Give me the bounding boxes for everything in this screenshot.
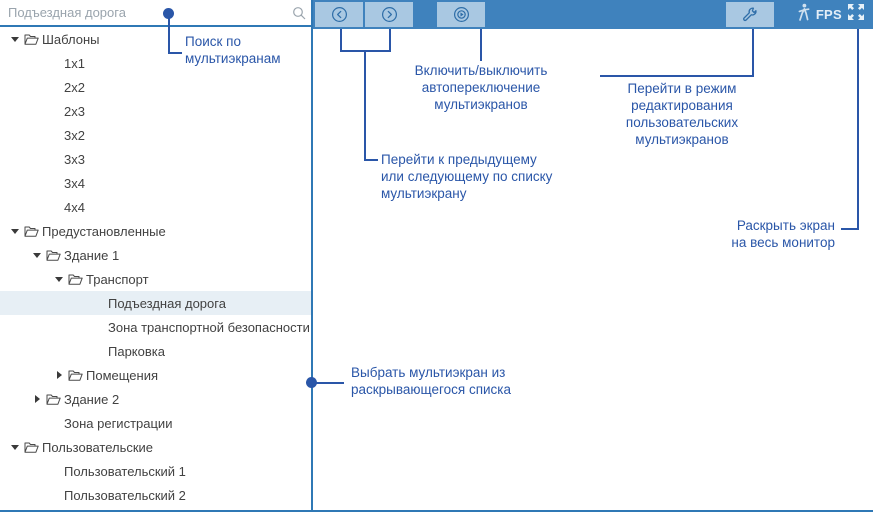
multiscreen-toolbar: FPS: [313, 0, 873, 29]
multiscreen-tree[interactable]: Шаблоны1x12x22x33x23x33x44x4Предустановл…: [0, 27, 313, 510]
tree-item[interactable]: Зона регистрации: [0, 411, 311, 435]
tree-item[interactable]: Помещения: [0, 363, 311, 387]
chevron-right-icon[interactable]: [52, 363, 66, 387]
search-input[interactable]: Подъездная дорога: [0, 5, 287, 20]
fps-indicator: FPS: [796, 3, 865, 27]
fullscreen-expand-icon[interactable]: [847, 3, 865, 26]
folder-spacer: [44, 459, 62, 483]
folder-spacer: [88, 339, 106, 363]
annotation-edit-mode: Перейти в режим редактирования пользоват…: [593, 80, 771, 148]
play-circle-icon: [453, 6, 470, 23]
folder-spacer: [44, 483, 62, 507]
tree-item-label: Здание 1: [62, 248, 119, 263]
callout-line-fullscreen-h: [841, 228, 859, 230]
tree-item[interactable]: Предустановленные: [0, 219, 311, 243]
tree-item[interactable]: Здание 2: [0, 387, 311, 411]
folder-icon: [44, 243, 62, 267]
callout-line-editmode-h: [600, 75, 754, 77]
folder-icon: [22, 219, 40, 243]
tree-item[interactable]: Пользовательские: [0, 435, 311, 459]
chevron-right-circle-icon: [381, 6, 398, 23]
callout-line-prevnext-drop: [364, 50, 366, 160]
tree-item[interactable]: 3x3: [0, 147, 311, 171]
tree-item[interactable]: 2x2: [0, 75, 311, 99]
folder-spacer: [44, 51, 62, 75]
tree-arrow-spacer: [30, 147, 44, 171]
tree-item-label: Помещения: [84, 368, 158, 383]
annotation-autoswitch: Включить/выключить автопереключение муль…: [379, 62, 583, 113]
tree-item-label: Парковка: [106, 344, 165, 359]
tree-item-label: 2x3: [62, 104, 85, 119]
prev-multiscreen-button[interactable]: [315, 2, 363, 27]
callout-line-search-v: [168, 13, 170, 53]
callout-line-next-v: [389, 29, 391, 51]
folder-spacer: [44, 195, 62, 219]
tree-item-label: Пользовательские: [40, 440, 153, 455]
chevron-down-icon[interactable]: [8, 435, 22, 459]
callout-line-editmode-v: [752, 29, 754, 76]
callout-line-autoswitch: [480, 29, 482, 61]
annotation-dropdown: Выбрать мультиэкран из раскрывающегося с…: [351, 364, 581, 398]
callout-line-prev-v: [340, 29, 342, 51]
tree-arrow-spacer: [30, 195, 44, 219]
tree-arrow-spacer: [30, 99, 44, 123]
tree-item[interactable]: Зона транспортной безопасности: [0, 315, 311, 339]
tree-arrow-spacer: [30, 411, 44, 435]
callout-line-search-h: [168, 52, 182, 54]
fps-label: FPS: [816, 7, 842, 22]
tree-item-label: Зона регистрации: [62, 416, 172, 431]
tree-item[interactable]: Пользовательский 1: [0, 459, 311, 483]
callout-line-dropdown: [312, 382, 344, 384]
annotation-fullscreen: Раскрыть экран на весь монитор: [655, 217, 835, 251]
tree-item-label: Зона транспортной безопасности: [106, 320, 310, 335]
search-field[interactable]: Подъездная дорога: [0, 0, 313, 27]
tree-arrow-spacer: [30, 483, 44, 507]
tree-arrow-spacer: [30, 75, 44, 99]
next-multiscreen-button[interactable]: [365, 2, 413, 27]
tree-item[interactable]: 3x2: [0, 123, 311, 147]
folder-icon: [66, 267, 84, 291]
chevron-down-icon[interactable]: [30, 243, 44, 267]
tree-item-label: 3x4: [62, 176, 85, 191]
tree-arrow-spacer: [30, 123, 44, 147]
annotation-prev-next: Перейти к предыдущему или следующему по …: [381, 151, 606, 202]
tree-item[interactable]: 4x4: [0, 195, 311, 219]
tree-item-label: 1x1: [62, 56, 85, 71]
folder-spacer: [44, 171, 62, 195]
chevron-left-circle-icon: [331, 6, 348, 23]
autoswitch-toggle-button[interactable]: [437, 2, 485, 27]
folder-spacer: [44, 99, 62, 123]
tree-arrow-spacer: [74, 339, 88, 363]
tree-item-label: 3x2: [62, 128, 85, 143]
folder-spacer: [44, 123, 62, 147]
chevron-down-icon[interactable]: [52, 267, 66, 291]
folder-icon: [44, 387, 62, 411]
search-icon[interactable]: [287, 0, 311, 26]
folder-icon: [22, 27, 40, 51]
tree-arrow-spacer: [30, 171, 44, 195]
tree-item[interactable]: Здание 1: [0, 243, 311, 267]
chevron-down-icon[interactable]: [8, 219, 22, 243]
tree-item-label: Здание 2: [62, 392, 119, 407]
folder-icon: [22, 435, 40, 459]
tree-item[interactable]: Транспорт: [0, 267, 311, 291]
tree-item-label: Транспорт: [84, 272, 149, 287]
tree-item-label: Предустановленные: [40, 224, 166, 239]
folder-spacer: [88, 291, 106, 315]
walking-person-icon: [796, 3, 811, 27]
chevron-right-icon[interactable]: [30, 387, 44, 411]
tree-item[interactable]: Парковка: [0, 339, 311, 363]
folder-spacer: [44, 75, 62, 99]
tree-arrow-spacer: [30, 51, 44, 75]
folder-spacer: [88, 315, 106, 339]
tree-item-label: 4x4: [62, 200, 85, 215]
tree-item[interactable]: Подъездная дорога: [0, 291, 311, 315]
tree-item-label: Пользовательский 1: [62, 464, 186, 479]
callout-line-fullscreen-v: [857, 29, 859, 229]
tree-item[interactable]: Пользовательский 2: [0, 483, 311, 507]
tree-arrow-spacer: [30, 459, 44, 483]
tree-item-label: 3x3: [62, 152, 85, 167]
tree-item[interactable]: 3x4: [0, 171, 311, 195]
tree-arrow-spacer: [74, 315, 88, 339]
edit-mode-button[interactable]: [726, 2, 774, 27]
folder-spacer: [44, 411, 62, 435]
tree-item-label: Пользовательский 2: [62, 488, 186, 503]
callout-line-prevnext-foot: [364, 159, 378, 161]
wrench-icon: [741, 6, 759, 24]
tree-item-label: Шаблоны: [40, 32, 100, 47]
annotation-search: Поиск по мультиэкранам: [185, 33, 315, 67]
folder-spacer: [44, 147, 62, 171]
chevron-down-icon[interactable]: [8, 27, 22, 51]
folder-icon: [66, 363, 84, 387]
tree-item-label: Подъездная дорога: [106, 296, 226, 311]
tree-arrow-spacer: [74, 291, 88, 315]
tree-item-label: 2x2: [62, 80, 85, 95]
tree-item[interactable]: 2x3: [0, 99, 311, 123]
